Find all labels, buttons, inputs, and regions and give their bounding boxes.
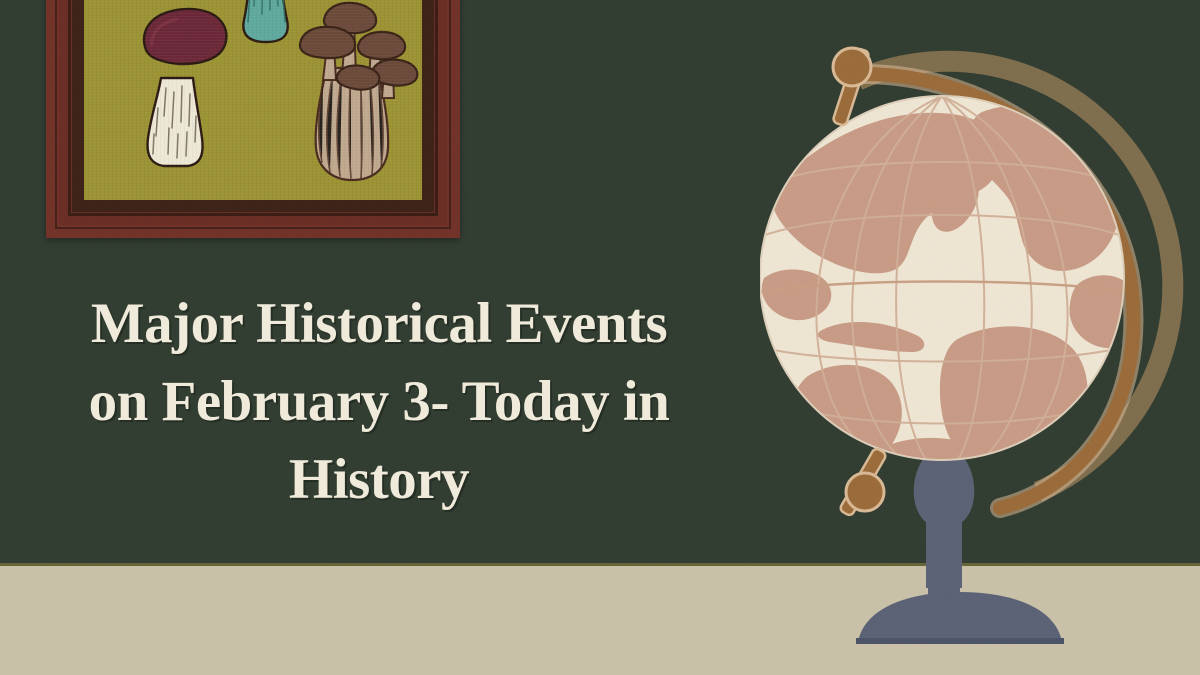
globe-illustration	[760, 40, 1200, 660]
globe-bottom-knob	[846, 473, 884, 511]
mushroom-wall-art	[46, 0, 460, 238]
globe-base	[858, 592, 1062, 642]
mushroom-illustration	[84, 0, 422, 200]
page-title: Major Historical Events on February 3- T…	[0, 285, 758, 519]
hero-banner: Major Historical Events on February 3- T…	[0, 0, 1200, 675]
teal-trumpet-mushroom	[243, 0, 287, 42]
page-title-line-2: on February 3- Today in	[0, 363, 758, 441]
brown-cluster-mushroom	[300, 3, 417, 180]
globe-top-knob	[833, 48, 871, 86]
maroon-cap-mushroom	[144, 9, 226, 166]
globe-base-shadow	[856, 638, 1064, 644]
painting-canvas	[84, 0, 422, 200]
desk-globe	[760, 40, 1200, 660]
page-title-line-1: Major Historical Events	[0, 285, 758, 363]
page-title-line-3: History	[0, 441, 758, 519]
